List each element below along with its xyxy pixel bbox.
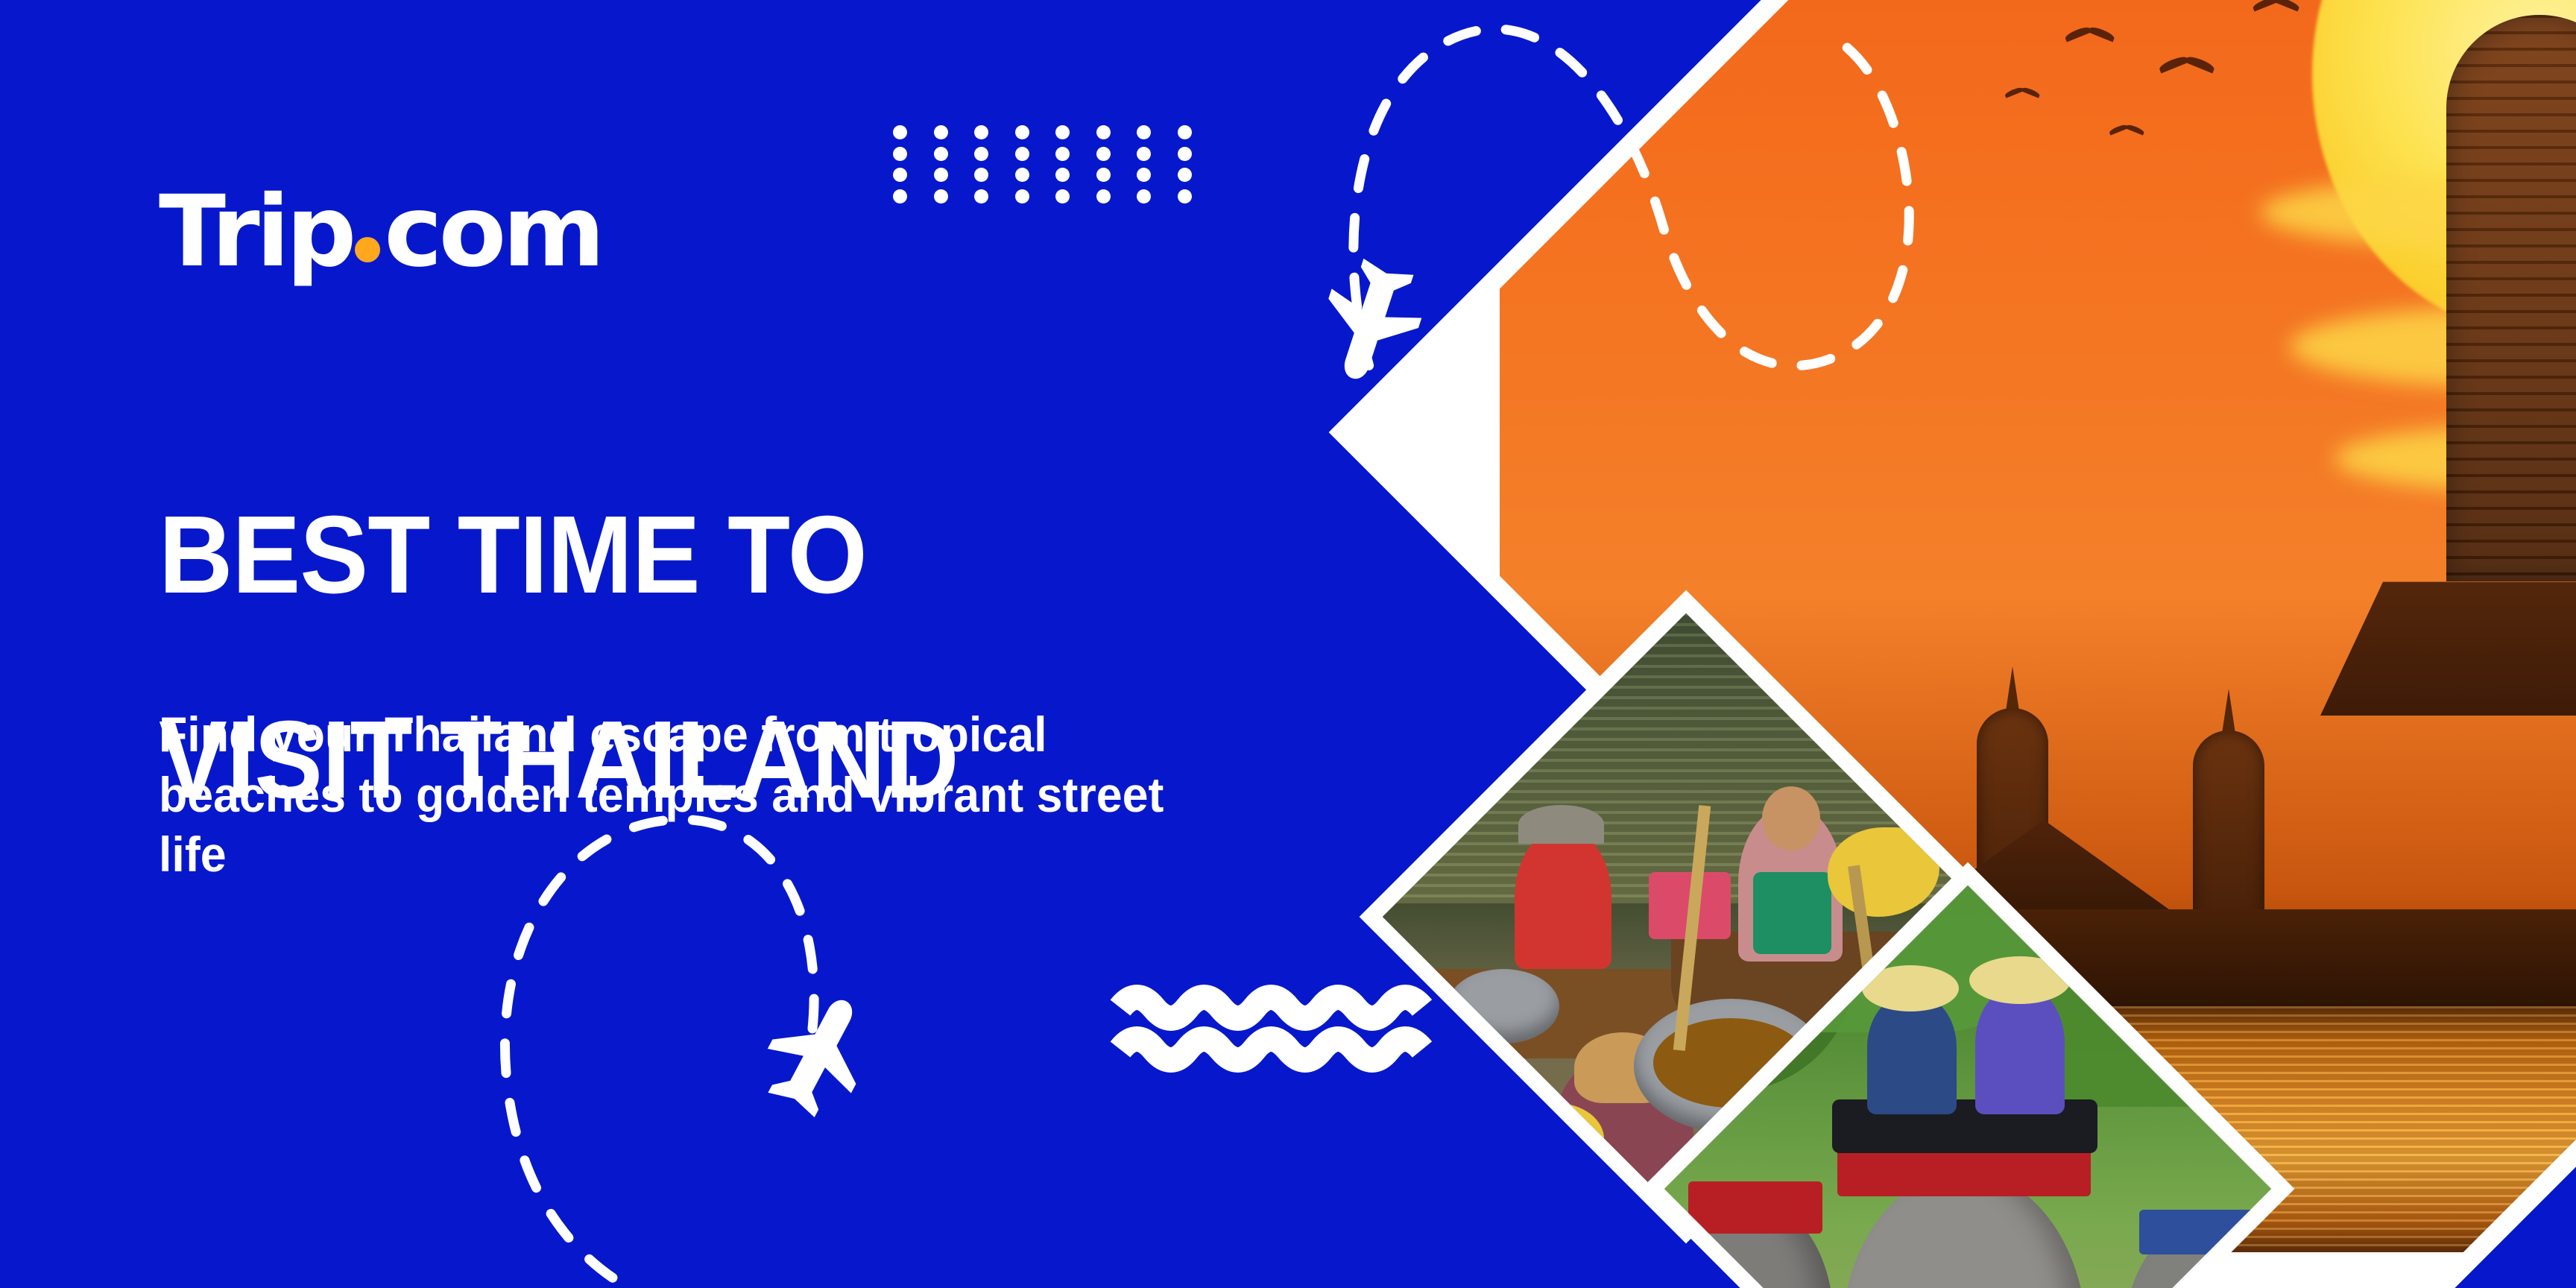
wave-line-1 [1120,997,1422,1018]
banner-canvas: Trip com BEST TIME TO VISIT THAILAND Fin… [0,0,2576,1288]
trip-com-logo[interactable]: Trip com [159,183,602,281]
airplane-icon-top [1307,252,1433,393]
logo-word-trip: Trip [159,183,353,281]
headline-line-1: BEST TIME TO [159,504,959,607]
wave-line-2 [1120,1039,1422,1060]
flight-path-top [1354,29,1909,421]
logo-word-com: com [384,183,601,281]
page-subtitle: Find your Thailand escape from tropical … [159,704,1221,885]
logo-dot-icon [355,237,380,262]
